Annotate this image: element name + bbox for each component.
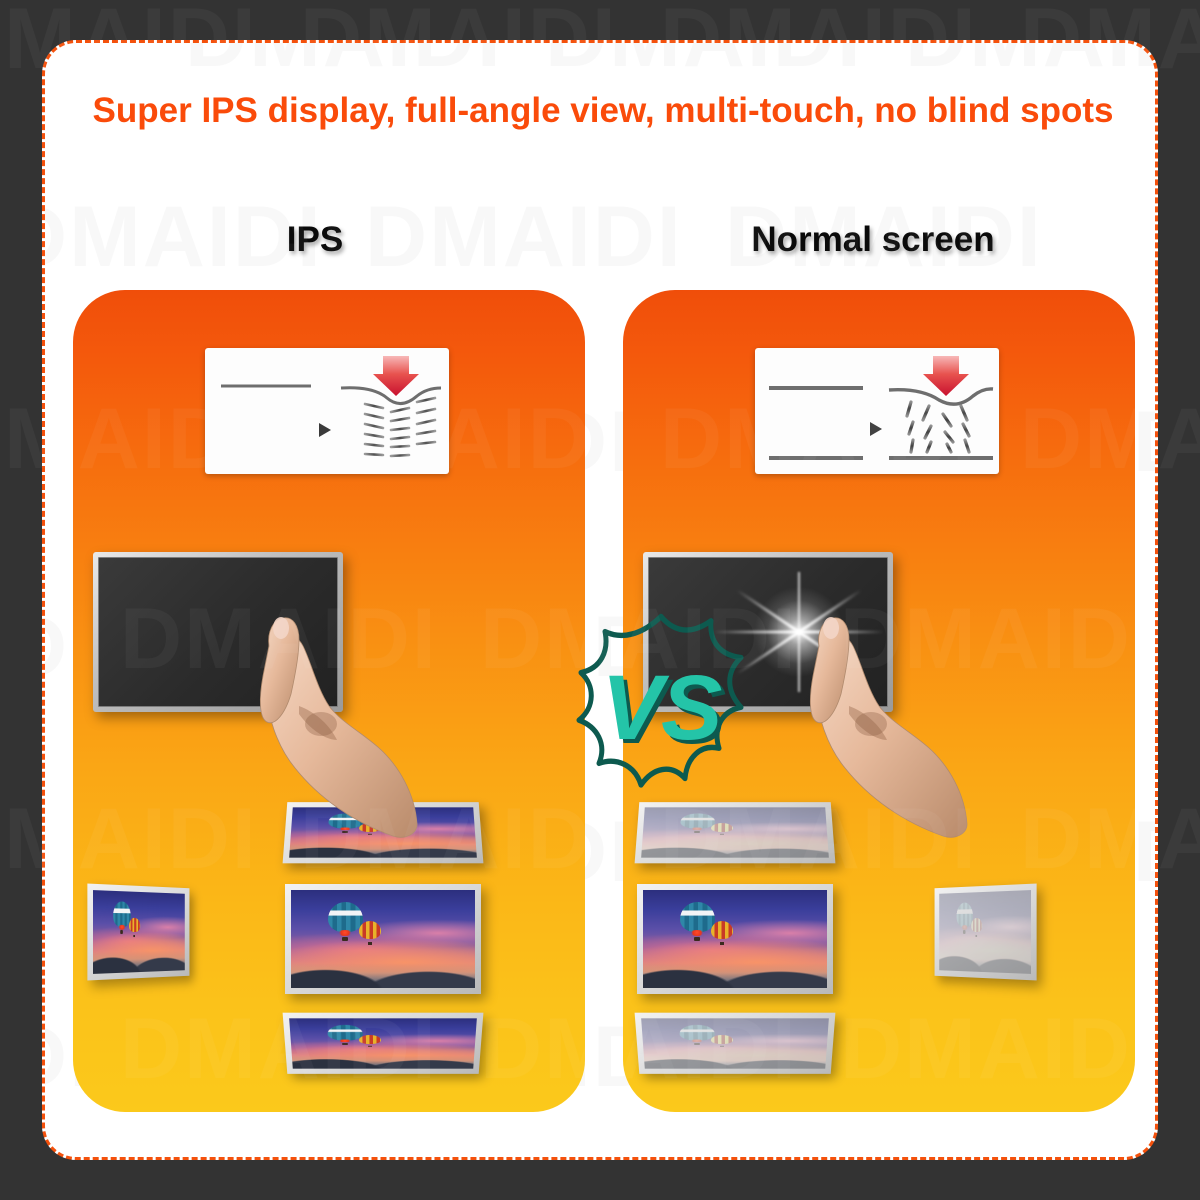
balloon-picture: [289, 807, 477, 857]
arrow-right-icon: [870, 422, 882, 436]
viewing-angle-cluster-normal: [623, 798, 1135, 1098]
balloon-picture: [289, 1018, 477, 1068]
screen-ips-no-bleed: [98, 557, 338, 707]
watermark-text: DMAIDI: [185, 43, 503, 87]
content-card: DMAIDI DMAIDI DMAIDI DMAIDI DMAIDI DMAID…: [42, 40, 1158, 1160]
angle-screen-bottom-ips: [283, 1013, 484, 1074]
lc-diagram-ips: [205, 348, 449, 474]
small-balloon: [971, 918, 982, 937]
small-balloon: [711, 1035, 733, 1047]
infographic-root: DMAIDI DMAIDI DMAIDI DMAIDI DMAIDI DMAID…: [0, 0, 1200, 1200]
large-balloon: [328, 902, 363, 941]
balloon-picture: [93, 890, 185, 974]
angle-screen-center-ips: [285, 884, 481, 994]
angle-screen-center-normal: [637, 884, 833, 994]
angle-screen-right-normal: [935, 884, 1037, 981]
balloon-picture: [643, 890, 827, 988]
small-balloon: [359, 1035, 381, 1047]
small-balloon: [359, 921, 381, 945]
balloon-picture: [641, 1018, 829, 1068]
column-label-normal: Normal screen: [585, 220, 1158, 260]
vs-badge: VS: [561, 588, 761, 828]
large-balloon: [327, 1025, 363, 1045]
column-label-ips: IPS: [45, 220, 585, 260]
large-balloon: [328, 813, 363, 833]
pressure-arrow-icon: [923, 356, 969, 396]
balloon-picture: [291, 890, 475, 988]
angle-screen-top-ips: [283, 802, 484, 863]
watermark-text: DMAIDI: [905, 43, 1155, 87]
balloon-picture: [939, 890, 1031, 974]
page-title: Super IPS display, full-angle view, mult…: [45, 89, 1158, 134]
lc-diagram-normal-svg: [755, 348, 999, 474]
pressure-arrow-icon: [373, 356, 419, 396]
small-balloon: [129, 917, 140, 936]
large-balloon: [679, 1025, 715, 1045]
lc-diagram-ips-svg: [205, 348, 449, 474]
small-balloon: [711, 921, 733, 945]
viewing-angle-cluster-ips: [73, 798, 585, 1098]
vs-label: VS: [561, 588, 761, 828]
angle-screen-bottom-normal: [635, 1013, 836, 1074]
panel-ips: [73, 290, 585, 1112]
small-balloon: [359, 823, 381, 835]
lc-diagram-normal: [755, 348, 999, 474]
arrow-right-icon: [319, 423, 331, 437]
large-balloon: [680, 902, 715, 941]
watermark-text: DMAIDI: [545, 43, 863, 87]
angle-screen-left-ips: [87, 884, 189, 981]
monitor-ips: [93, 552, 343, 712]
